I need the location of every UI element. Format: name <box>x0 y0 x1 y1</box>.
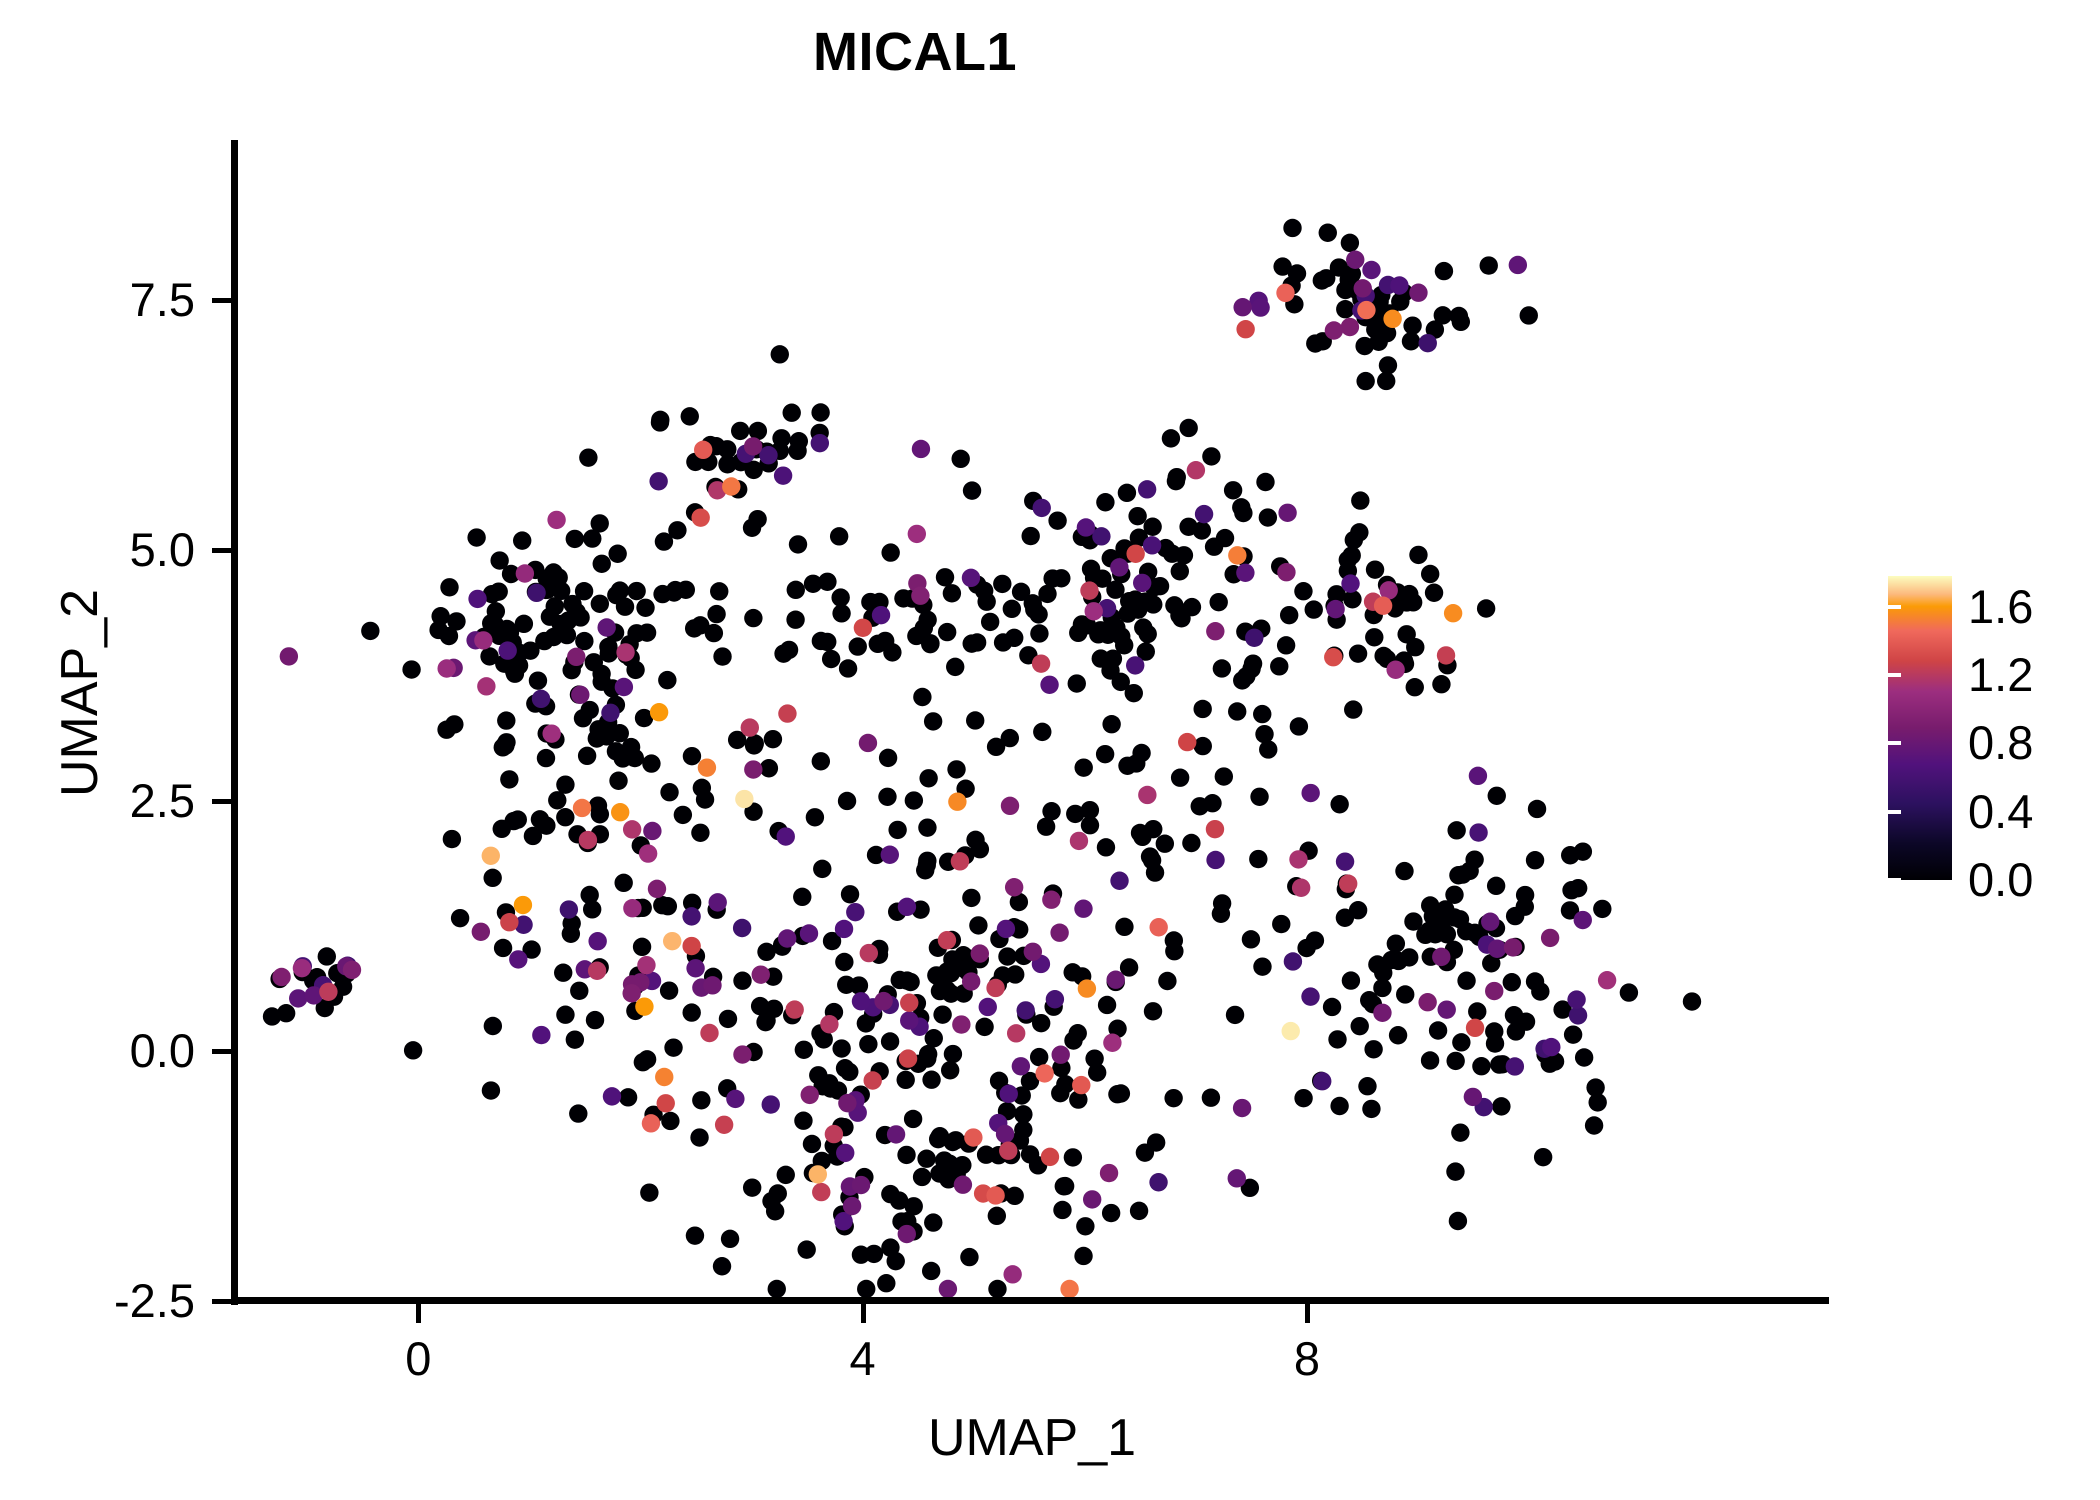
scatter-point <box>872 606 890 624</box>
scatter-point <box>881 1032 899 1050</box>
page-title: MICAL1 <box>0 22 1830 82</box>
scatter-point <box>653 896 671 914</box>
scatter-point <box>1259 508 1277 526</box>
scatter-point <box>904 1110 922 1128</box>
scatter-point <box>663 932 681 950</box>
scatter-point <box>988 1207 1006 1225</box>
scatter-point <box>650 703 668 721</box>
scatter-point <box>1480 256 1498 274</box>
scatter-point <box>529 671 547 689</box>
scatter-point <box>482 1081 500 1099</box>
scatter-point <box>1046 990 1064 1008</box>
scatter-point <box>1319 224 1337 242</box>
scatter-point <box>615 678 633 696</box>
scatter-point <box>1144 820 1162 838</box>
scatter-point <box>571 686 589 704</box>
colorbar-tick-mark <box>1888 673 1901 677</box>
scatter-point <box>623 820 641 838</box>
scatter-point <box>832 604 850 622</box>
scatter-point <box>1053 1201 1071 1219</box>
scatter-point <box>1341 574 1359 592</box>
scatter-point <box>744 437 762 455</box>
scatter-point <box>1097 838 1115 856</box>
scatter-point <box>623 899 641 917</box>
scatter-point <box>1683 992 1701 1010</box>
scatter-point <box>1574 911 1592 929</box>
scatter-point <box>1056 1177 1074 1195</box>
scatter-point <box>1488 787 1506 805</box>
scatter-point <box>887 1125 905 1143</box>
scatter-point <box>1194 737 1212 755</box>
scatter-point <box>1085 602 1103 620</box>
scatter-point <box>1277 636 1295 654</box>
scatter-point <box>496 736 514 754</box>
scatter-point <box>1156 834 1174 852</box>
scatter-point <box>1251 298 1269 316</box>
scatter-point <box>1081 816 1099 834</box>
scatter-point <box>440 578 458 596</box>
scatter-point <box>622 984 640 1002</box>
scatter-point <box>859 734 877 752</box>
scatter-point <box>1250 788 1268 806</box>
scatter-point <box>1469 767 1487 785</box>
scatter-point <box>1386 661 1404 679</box>
scatter-point <box>1346 251 1364 269</box>
scatter-point <box>969 916 987 934</box>
scatter-point <box>1110 558 1128 576</box>
scatter-point <box>1336 852 1354 870</box>
scatter-point <box>721 1230 739 1248</box>
scatter-point <box>674 806 692 824</box>
scatter-point <box>509 810 527 828</box>
scatter-point <box>611 581 629 599</box>
scatter-point <box>1301 784 1319 802</box>
scatter-point <box>1088 1063 1106 1081</box>
scatter-point <box>1620 983 1638 1001</box>
scatter-point <box>1001 797 1019 815</box>
scatter-point <box>713 647 731 665</box>
scatter-point <box>897 1071 915 1089</box>
scatter-point <box>865 1245 883 1263</box>
scatter-point <box>715 1116 733 1134</box>
scatter-point <box>922 1071 940 1089</box>
scatter-point <box>404 1041 422 1059</box>
scatter-point <box>1444 604 1462 622</box>
scatter-point <box>588 932 606 950</box>
scatter-point <box>531 810 549 828</box>
scatter-point <box>627 624 645 642</box>
scatter-point <box>1368 955 1386 973</box>
scatter-point <box>971 944 989 962</box>
scatter-point <box>1324 648 1342 666</box>
scatter-point <box>583 529 601 547</box>
scatter-point <box>707 605 725 623</box>
scatter-point <box>881 846 899 864</box>
scatter-point <box>589 720 607 738</box>
scatter-point <box>1064 1148 1082 1166</box>
scatter-point <box>979 998 997 1016</box>
scatter-point <box>640 1183 658 1201</box>
scatter-point <box>931 1127 949 1145</box>
scatter-point <box>660 981 678 999</box>
scatter-point <box>472 923 490 941</box>
colorbar-tick-mark <box>2065 605 2078 609</box>
umap-feature-plot: MICAL1 7.55.02.50.0-2.5 048 UMAP_1 UMAP_… <box>0 0 2100 1500</box>
scatter-point <box>1069 1024 1087 1042</box>
scatter-point <box>971 840 989 858</box>
scatter-point <box>1409 284 1427 302</box>
scatter-point <box>1585 1116 1603 1134</box>
scatter-point <box>1349 644 1367 662</box>
scatter-point <box>1228 702 1246 720</box>
scatter-point <box>1437 646 1455 664</box>
scatter-point <box>836 1144 854 1162</box>
scatter-point <box>500 770 518 788</box>
scatter-point <box>774 644 792 662</box>
scatter-point <box>774 466 792 484</box>
scatter-point <box>608 545 626 563</box>
scatter-point <box>657 1094 675 1112</box>
scatter-point <box>997 920 1015 938</box>
scatter-point <box>947 760 965 778</box>
scatter-point <box>554 964 572 982</box>
scatter-point <box>846 903 864 921</box>
scatter-point <box>741 718 759 736</box>
scatter-point <box>1432 948 1450 966</box>
scatter-point <box>447 612 465 630</box>
scatter-point <box>1277 563 1295 581</box>
scatter-point <box>812 1183 830 1201</box>
scatter-point <box>588 962 606 980</box>
scatter-point <box>1280 606 1298 624</box>
scatter-point <box>1168 468 1186 486</box>
scatter-point <box>1112 673 1130 691</box>
scatter-point <box>735 790 753 808</box>
colorbar-tick-mark <box>1888 810 1901 814</box>
scatter-point <box>597 618 615 636</box>
scatter-point <box>1374 597 1392 615</box>
scatter-point <box>686 1226 704 1244</box>
scatter-point <box>280 647 298 665</box>
scatter-point <box>1103 1034 1121 1052</box>
colorbar-tick-mark <box>1888 605 1901 609</box>
scatter-point <box>1164 1089 1182 1107</box>
scatter-point <box>566 530 584 548</box>
scatter-point <box>1328 1030 1346 1048</box>
scatter-point <box>494 939 512 957</box>
scatter-point <box>925 1029 943 1047</box>
scatter-point <box>1171 562 1189 580</box>
scatter-point <box>1402 332 1420 350</box>
scatter-point <box>1446 1162 1464 1180</box>
scatter-point <box>864 1071 882 1089</box>
scatter-point <box>1083 1190 1101 1208</box>
scatter-point <box>1215 767 1233 785</box>
scatter-point <box>964 1128 982 1146</box>
scatter-point <box>1290 717 1308 735</box>
scatter-point <box>898 898 916 916</box>
scatter-point <box>760 759 778 777</box>
scatter-point <box>1233 671 1251 689</box>
scatter-point <box>542 724 560 742</box>
scatter-point <box>575 632 593 650</box>
scatter-point <box>1070 832 1088 850</box>
scatter-point <box>766 1202 784 1220</box>
scatter-point <box>1294 1089 1312 1107</box>
x-tick-mark <box>416 1304 421 1323</box>
scatter-point <box>480 647 498 665</box>
scatter-point <box>762 1095 780 1113</box>
scatter-point <box>899 1049 917 1067</box>
scatter-point <box>636 599 654 617</box>
scatter-point <box>1450 307 1468 325</box>
scatter-point <box>1526 851 1544 869</box>
scatter-point <box>1206 851 1224 869</box>
scatter-point <box>1183 598 1201 616</box>
scatter-point <box>1351 491 1369 509</box>
scatter-point <box>1126 545 1144 563</box>
colorbar-tick-mark <box>1888 878 1901 882</box>
scatter-point <box>913 688 931 706</box>
scatter-point <box>556 1006 574 1024</box>
scatter-point <box>710 582 728 600</box>
scatter-point <box>795 1041 813 1059</box>
scatter-point <box>1136 592 1154 610</box>
scatter-point <box>1048 511 1066 529</box>
scatter-point <box>1171 769 1189 787</box>
scatter-point <box>1005 1187 1023 1205</box>
scatter-point <box>1330 258 1348 276</box>
scatter-point <box>887 1252 905 1270</box>
scatter-point <box>1517 1012 1535 1030</box>
plot-panel <box>235 140 1829 1301</box>
scatter-point <box>1429 1021 1447 1039</box>
scatter-point <box>759 446 777 464</box>
scatter-point <box>506 665 524 683</box>
scatter-point <box>1025 600 1043 618</box>
scatter-point <box>1118 484 1136 502</box>
scatter-point <box>900 994 918 1012</box>
scatter-point <box>874 992 892 1010</box>
scatter-point <box>1486 1034 1504 1052</box>
x-tick-label: 0 <box>338 1334 498 1384</box>
scatter-point <box>777 1166 795 1184</box>
scatter-point <box>1003 1265 1021 1283</box>
scatter-point <box>800 924 818 942</box>
scatter-point <box>1128 507 1146 525</box>
scatter-point <box>988 1280 1006 1298</box>
scatter-point <box>1468 1002 1486 1020</box>
scatter-point <box>981 613 999 631</box>
scatter-point <box>619 1088 637 1106</box>
scatter-point <box>661 1112 679 1130</box>
scatter-point <box>513 531 531 549</box>
scatter-point <box>1179 518 1197 536</box>
scatter-point <box>927 966 945 984</box>
scatter-point <box>1354 279 1372 297</box>
scatter-point <box>1395 862 1413 880</box>
scatter-point <box>664 1038 682 1056</box>
scatter-point <box>917 1150 935 1168</box>
y-tick-label: 7.5 <box>0 276 195 323</box>
scatter-point <box>1472 1057 1490 1075</box>
scatter-point <box>1256 473 1274 491</box>
scatter-point <box>1435 262 1453 280</box>
scatter-point <box>516 564 534 582</box>
scatter-point <box>1216 529 1234 547</box>
scatter-point <box>1593 900 1611 918</box>
scatter-point <box>563 595 581 613</box>
scatter-point <box>1021 1145 1039 1163</box>
scatter-point <box>1534 1148 1552 1166</box>
scatter-point <box>1206 820 1224 838</box>
scatter-point <box>642 1114 660 1132</box>
scatter-point <box>1072 1076 1090 1094</box>
scatter-point <box>812 632 830 650</box>
scatter-point <box>1030 624 1048 642</box>
scatter-point <box>891 971 909 989</box>
scatter-point <box>731 422 749 440</box>
scatter-point <box>1488 940 1506 958</box>
scatter-point <box>1195 505 1213 523</box>
scatter-point <box>968 633 986 651</box>
scatter-point <box>1228 1169 1246 1187</box>
scatter-point <box>1330 1097 1348 1115</box>
scatter-point <box>361 622 379 640</box>
scatter-point <box>272 968 290 986</box>
y-tick-mark <box>212 1049 231 1054</box>
scatter-point <box>1276 284 1294 302</box>
colorbar-tick-label: 0.0 <box>1968 856 2033 903</box>
scatter-point <box>691 508 709 526</box>
scatter-point <box>635 997 653 1015</box>
scatter-point <box>1097 623 1115 641</box>
scatter-point <box>560 900 578 918</box>
scatter-point <box>946 1131 964 1149</box>
scatter-point <box>562 925 580 943</box>
scatter-point <box>1452 1033 1470 1051</box>
scatter-point <box>586 1011 604 1029</box>
scatter-point <box>1301 987 1319 1005</box>
scatter-point <box>831 588 849 606</box>
scatter-point <box>1438 1000 1456 1018</box>
scatter-point <box>566 1030 584 1048</box>
scatter-point <box>593 555 611 573</box>
scatter-point <box>877 1274 895 1292</box>
scatter-point <box>1409 546 1427 564</box>
scatter-point <box>1389 1026 1407 1044</box>
scatter-point <box>1165 942 1183 960</box>
scatter-point <box>850 976 868 994</box>
scatter-point <box>921 635 939 653</box>
scatter-point <box>1179 419 1197 437</box>
scatter-point <box>1336 281 1354 299</box>
scatter-point <box>852 1176 870 1194</box>
scatter-point <box>1306 931 1324 949</box>
scatter-point <box>1100 1164 1118 1182</box>
scatter-point <box>690 1128 708 1146</box>
scatter-point <box>719 1010 737 1028</box>
scatter-point <box>849 637 867 655</box>
scatter-point <box>547 511 565 529</box>
scatter-point <box>1588 1093 1606 1111</box>
scatter-point <box>493 820 511 838</box>
scatter-point <box>785 1000 803 1018</box>
scatter-point <box>497 711 515 729</box>
scatter-point <box>922 1262 940 1280</box>
scatter-point <box>694 441 712 459</box>
scatter-point <box>963 481 981 499</box>
scatter-point <box>1432 675 1450 693</box>
scatter-point <box>1344 700 1362 718</box>
scatter-point <box>1050 923 1068 941</box>
scatter-point <box>1112 1084 1130 1102</box>
scatter-point <box>509 950 527 968</box>
scatter-point <box>1531 982 1549 1000</box>
scatter-point <box>924 1213 942 1231</box>
scatter-point <box>993 575 1011 593</box>
scatter-point <box>852 992 870 1010</box>
scatter-point <box>601 704 619 722</box>
scatter-point <box>768 1280 786 1298</box>
scatter-point <box>944 1045 962 1063</box>
scatter-point <box>1425 584 1443 602</box>
scatter-point <box>764 730 782 748</box>
scatter-point <box>1052 1046 1070 1064</box>
scatter-point <box>1076 1217 1094 1235</box>
scatter-point <box>757 943 775 961</box>
scatter-point <box>431 607 449 625</box>
scatter-point <box>789 535 807 553</box>
scatter-point <box>790 432 808 450</box>
scatter-point <box>1421 1051 1439 1069</box>
scatter-point <box>1305 600 1323 618</box>
scatter-point <box>960 1248 978 1266</box>
scatter-point <box>811 434 829 452</box>
scatter-point <box>1383 310 1401 328</box>
scatter-point <box>1077 518 1095 536</box>
scatter-point <box>683 747 701 765</box>
scatter-point <box>1182 834 1200 852</box>
scatter-point <box>1341 234 1359 252</box>
x-tick-label: 8 <box>1227 1334 1387 1384</box>
scatter-point <box>1143 851 1161 869</box>
scatter-point <box>1092 527 1110 545</box>
scatter-point <box>1564 1025 1582 1043</box>
scatter-point <box>500 913 518 931</box>
scatter-point <box>726 1090 744 1108</box>
scatter-point <box>579 448 597 466</box>
colorbar-tick-mark <box>2065 741 2078 745</box>
scatter-point <box>854 619 872 637</box>
scatter-point <box>637 956 655 974</box>
scatter-point <box>744 609 762 627</box>
scatter-point <box>952 1015 970 1033</box>
scatter-point <box>751 997 769 1015</box>
scatter-point <box>1042 802 1060 820</box>
scatter-point <box>1074 900 1092 918</box>
scatter-point <box>1066 805 1084 823</box>
colorbar-tick-mark <box>2065 673 2078 677</box>
scatter-point <box>583 900 601 918</box>
scatter-point <box>1509 256 1527 274</box>
scatter-point <box>859 1035 877 1053</box>
scatter-point <box>1202 1088 1220 1106</box>
scatter-point <box>936 568 954 586</box>
scatter-point <box>1457 922 1475 940</box>
scatter-point <box>1228 546 1246 564</box>
scatter-point <box>1504 938 1522 956</box>
